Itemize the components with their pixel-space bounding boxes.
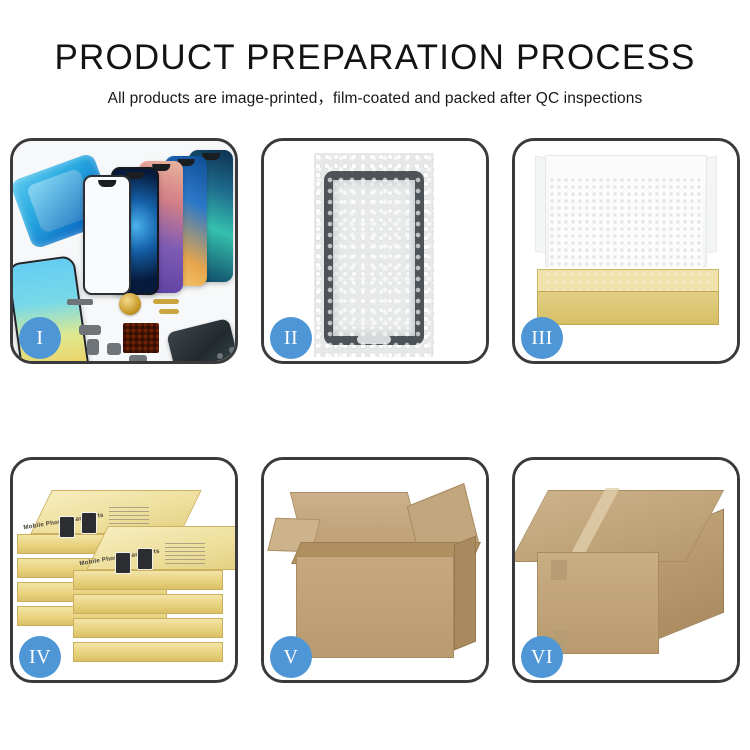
inner-box-side [73, 570, 223, 590]
part-chip-icon [129, 355, 147, 361]
process-step-1: I [10, 138, 238, 364]
wrapped-screen-in-box [545, 271, 711, 293]
phone-graphic-1 [83, 175, 131, 295]
header: PRODUCT PREPARATION PROCESS All products… [0, 0, 750, 107]
process-step-2: II [261, 138, 489, 364]
step-badge-5: V [270, 636, 312, 678]
step-badge-6: VI [521, 636, 563, 678]
bubble-sheen-overlay [314, 153, 434, 357]
process-step-3: III [512, 138, 740, 364]
inner-box-side [73, 594, 223, 614]
phone-notch-icon [98, 180, 116, 187]
carton-front-panel [296, 556, 454, 658]
box-print-thumb [59, 516, 75, 538]
part-chip-icon [107, 343, 121, 355]
part-strip-icon [67, 299, 93, 305]
process-step-5: V [261, 457, 489, 683]
flex-cable-icon [153, 299, 179, 304]
box-print-textlines [109, 504, 149, 528]
process-step-grid: I II II [10, 138, 741, 684]
part-screw-icon [217, 353, 223, 359]
phone-backplate-icon [166, 318, 235, 361]
carton-side-panel [454, 536, 476, 651]
step-badge-4: IV [19, 636, 61, 678]
page-subtitle: All products are image-printed，film-coat… [0, 75, 750, 107]
step-badge-1: I [19, 317, 61, 359]
process-step-6: VI [512, 457, 740, 683]
part-chip-icon [87, 339, 99, 355]
copper-coil-icon [119, 293, 141, 315]
box-print-thumb [115, 552, 131, 574]
product-preparation-infographic: PRODUCT PREPARATION PROCESS All products… [0, 0, 750, 750]
inner-box-lid-top [86, 526, 235, 570]
carton-handle-tab [551, 560, 567, 580]
step-badge-3: III [521, 317, 563, 359]
inner-box-side [73, 642, 223, 662]
step-badge-2: II [270, 317, 312, 359]
bubble-wrap-sheet [314, 153, 434, 357]
part-chip-icon [79, 325, 101, 335]
spare-parts-cluster [67, 291, 235, 361]
box-print-thumb [137, 548, 153, 570]
flex-cable-icon [159, 309, 179, 314]
part-screw-icon [229, 347, 235, 353]
foam-liner [549, 177, 703, 267]
box-print-textlines [165, 540, 205, 564]
box-tray-front [537, 291, 719, 325]
chip-grid-icon [123, 323, 159, 353]
box-print-thumb [81, 512, 97, 534]
process-step-4: Mobile Phone Spare Parts Mobile Phone Sp… [10, 457, 238, 683]
inner-box-side [73, 618, 223, 638]
page-title: PRODUCT PREPARATION PROCESS [0, 0, 750, 75]
